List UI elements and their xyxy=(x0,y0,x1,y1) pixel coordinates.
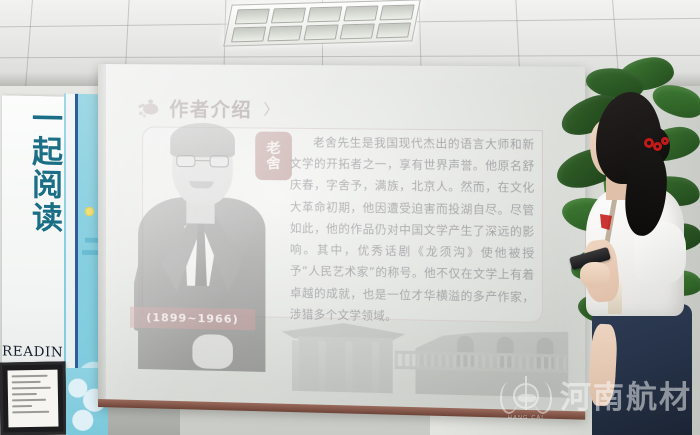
presenter xyxy=(572,92,700,435)
hair-clip-icon xyxy=(644,136,670,156)
building-illustration xyxy=(261,317,568,401)
photo-scene: 一起阅读 READING 书 作者介绍 xyxy=(0,0,700,435)
projection-screen[interactable]: 作者介绍 〉 老 舍 老舍先生是 xyxy=(98,64,585,420)
teapot-icon xyxy=(138,98,162,118)
life-years-badge: (1899~1966) xyxy=(130,307,255,331)
banner-white-panel: 一起阅读 READING xyxy=(2,95,64,388)
banner-vertical-title: 一起阅读 xyxy=(6,101,60,234)
author-seal-stamp: 老 舍 xyxy=(255,131,292,180)
seal-char-2: 舍 xyxy=(266,156,281,171)
presentation-slide: 作者介绍 〉 老 舍 老舍先生是 xyxy=(112,80,570,404)
seal-char-1: 老 xyxy=(266,141,281,156)
ceiling-light-fixture xyxy=(223,0,421,47)
banner-english-subtitle: READING xyxy=(2,343,64,360)
life-years-text: (1899~1966) xyxy=(146,311,238,326)
screen-left-edge xyxy=(98,64,106,407)
chevron-right-icon: 〉 xyxy=(263,98,278,119)
framed-poster xyxy=(0,361,67,435)
poster-paper xyxy=(8,370,59,428)
author-biography-text: 老舍先生是我国现代杰出的语言大师和新文学的开拓者之一，享有世界声誉。他原名舒庆春… xyxy=(290,132,535,330)
author-portrait xyxy=(134,118,267,372)
presenter-hand xyxy=(580,262,610,288)
flower-icon xyxy=(84,206,95,217)
